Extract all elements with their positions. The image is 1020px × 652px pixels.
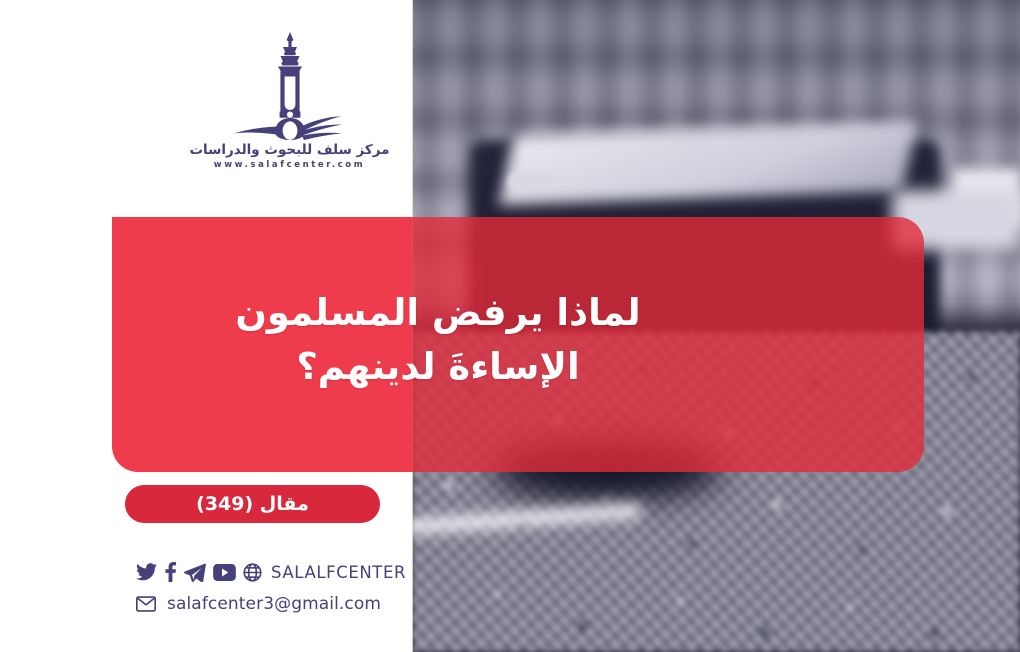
telegram-icon[interactable] [184,563,206,582]
twitter-icon[interactable] [136,563,157,581]
headline-text: لماذا يرفض المسلمون الإساءةَ لدينهم؟ [112,217,844,472]
envelope-icon [136,596,156,612]
photo-kaaba-door [508,172,554,188]
email-address[interactable]: salafcenter3@gmail.com [167,594,381,614]
social-icon-list [136,562,262,582]
photo-kaaba-top-face [499,121,917,205]
globe-icon[interactable] [243,563,262,582]
article-count-badge[interactable]: مقال (349) [125,485,380,523]
email-row: salafcenter3@gmail.com [136,590,406,618]
headline-line-2: الإساءةَ لدينهم؟ [296,343,579,390]
minaret-book-logo-icon [231,30,349,140]
social-row: SALALFCENTER [136,558,406,586]
facebook-icon[interactable] [164,562,177,582]
social-handle: SALALFCENTER [271,563,406,582]
headline-banner: لماذا يرفض المسلمون الإساءةَ لدينهم؟ [112,217,924,472]
brand-name: مركز سلف للبحوث والدراسات [182,142,397,158]
headline-line-1: لماذا يرفض المسلمون [235,289,640,336]
brand-logo: مركز سلف للبحوث والدراسات www.salafcente… [182,30,397,170]
brand-website: www.salafcenter.com [182,160,397,170]
article-card: مركز سلف للبحوث والدراسات www.salafcente… [0,0,1020,652]
youtube-icon[interactable] [213,564,236,581]
contact-block: SALALFCENTER salafcenter3@gmail.com [136,558,406,618]
